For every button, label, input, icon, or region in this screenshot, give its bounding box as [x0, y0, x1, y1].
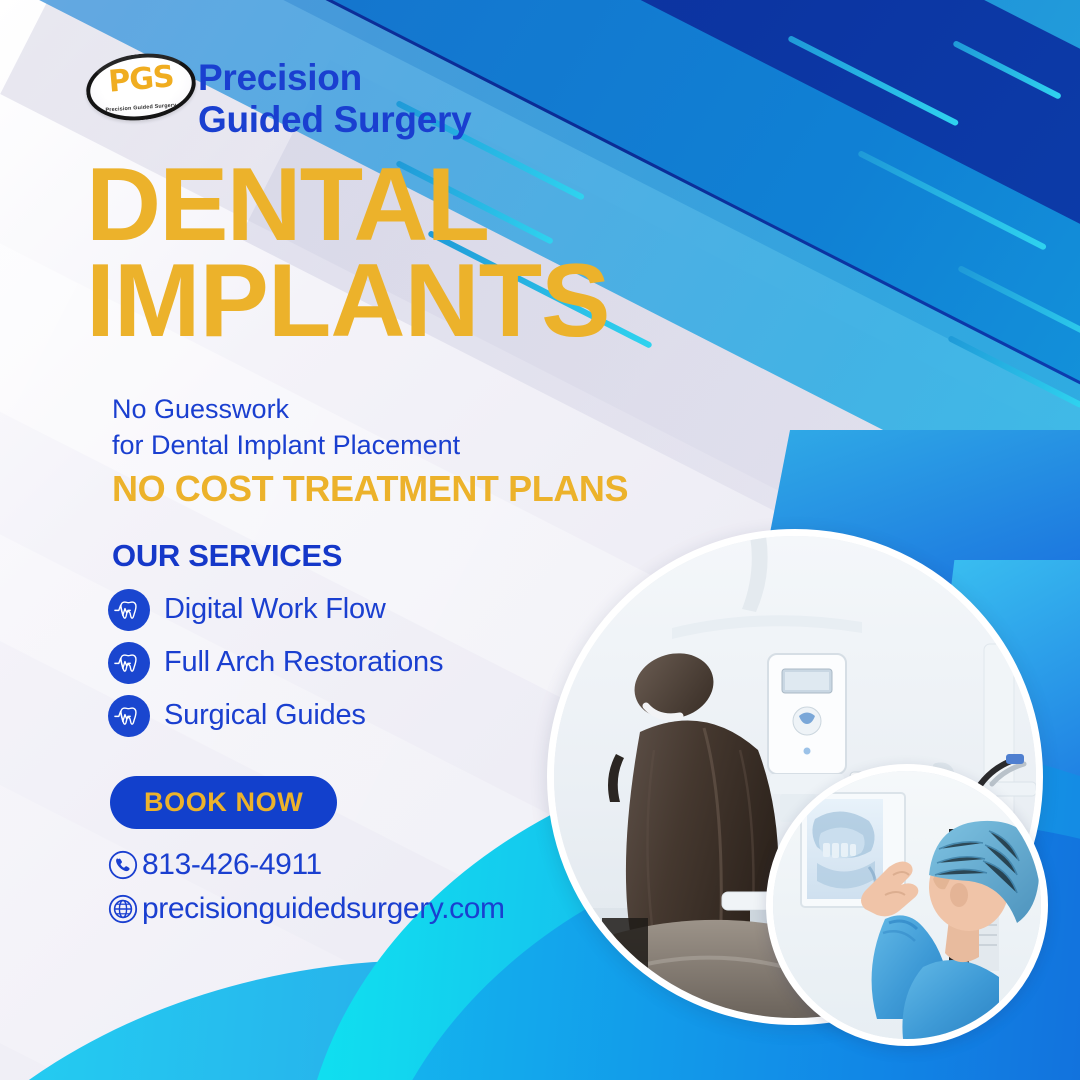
- phone-icon: [107, 849, 139, 881]
- tooth-pulse-icon: [108, 695, 150, 737]
- website-url: precisionguidedsurgery.com: [142, 892, 505, 926]
- xray-review-illustration: [773, 771, 1041, 1039]
- service-label: Full Arch Restorations: [164, 646, 443, 679]
- clinician-reviewing-xray-photo: [766, 764, 1048, 1046]
- brand-name: Precision Guided Surgery: [198, 57, 471, 141]
- tagline: No Guesswork for Dental Implant Placemen…: [112, 392, 460, 464]
- offer-headline: NO COST TREATMENT PLANS: [112, 468, 628, 510]
- page-title: DENTAL IMPLANTS: [86, 158, 610, 349]
- services-heading: OUR SERVICES: [112, 538, 342, 574]
- list-item[interactable]: Full Arch Restorations: [108, 636, 608, 689]
- brand-name-line1: Precision: [198, 57, 471, 99]
- contact-block: 813-426-4911 precisionguidedsurgery.com: [107, 843, 505, 931]
- tagline-line2: for Dental Implant Placement: [112, 428, 460, 464]
- headline-line2: IMPLANTS: [86, 254, 610, 350]
- list-item[interactable]: Surgical Guides: [108, 689, 608, 742]
- contact-phone-row[interactable]: 813-426-4911: [107, 843, 505, 887]
- service-label: Digital Work Flow: [164, 593, 386, 626]
- phone-number: 813-426-4911: [142, 848, 322, 882]
- tooth-pulse-icon: [108, 589, 150, 631]
- service-label: Surgical Guides: [164, 699, 366, 732]
- globe-icon: [107, 893, 139, 925]
- services-list: Digital Work Flow Full Arch Restorations…: [108, 583, 608, 742]
- headline-line1: DENTAL: [86, 158, 610, 254]
- book-now-button[interactable]: BOOK NOW: [110, 776, 337, 829]
- brand-name-line2: Guided Surgery: [198, 99, 471, 141]
- contact-website-row[interactable]: precisionguidedsurgery.com: [107, 887, 505, 931]
- pgs-logo: PGS Precision Guided Surgery: [86, 54, 196, 120]
- dental-implants-ad-poster: PGS Precision Guided Surgery Precision G…: [0, 0, 1080, 1080]
- list-item[interactable]: Digital Work Flow: [108, 583, 608, 636]
- tooth-pulse-icon: [108, 642, 150, 684]
- tagline-line1: No Guesswork: [112, 392, 460, 428]
